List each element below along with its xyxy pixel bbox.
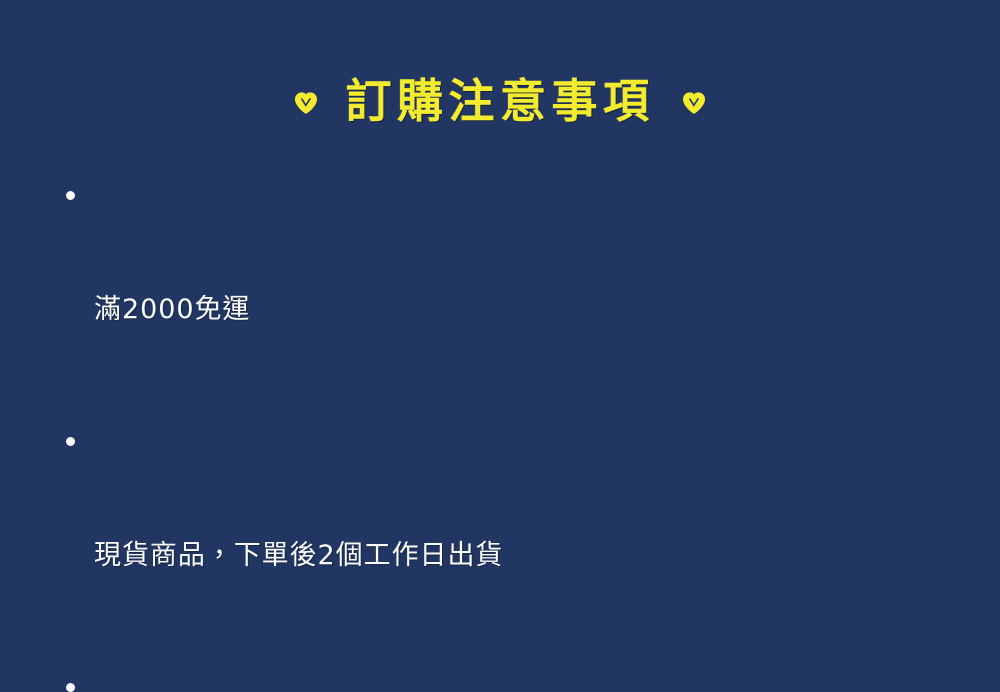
page-title: 訂購注意事項 [0, 70, 1000, 132]
notice-line: 滿2000免運 [94, 291, 960, 329]
heart-icon-left [293, 90, 319, 116]
list-item: 現貨商品，下單後2個工作日出貨 [60, 422, 960, 652]
list-item: 預購商品，7-25日(含假日)出貨 [60, 668, 960, 692]
bullet-icon [66, 437, 75, 446]
page-title-text: 訂購注意事項 [345, 78, 654, 124]
notice-line: 現貨商品，下單後2個工作日出貨 [94, 537, 960, 575]
order-notice-card: 訂購注意事項 滿2000免運 現貨商品，下單後2個工作日出貨 預購商品，7-25… [0, 0, 1000, 692]
bullet-icon [66, 191, 75, 200]
heart-icon-right [681, 90, 707, 116]
bullet-icon [66, 683, 75, 692]
notice-list: 滿2000免運 現貨商品，下單後2個工作日出貨 預購商品，7-25日(含假日)出… [60, 176, 960, 692]
list-item: 滿2000免運 [60, 176, 960, 406]
